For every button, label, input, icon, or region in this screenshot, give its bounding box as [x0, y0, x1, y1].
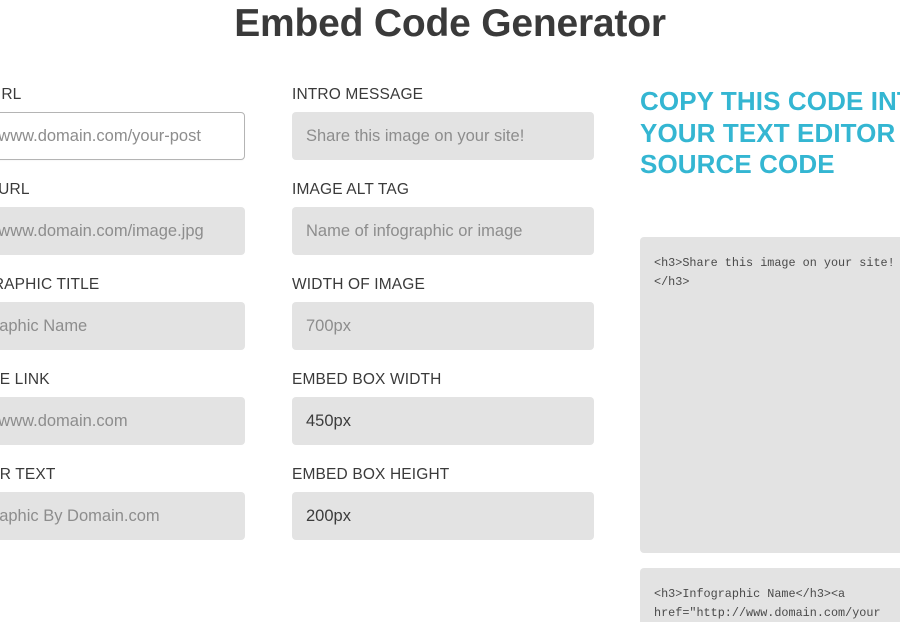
input-embed-box-height[interactable]: 200px: [292, 492, 594, 540]
input-image-url[interactable]: http://www.domain.com/image.jpg: [0, 207, 245, 255]
input-post-url[interactable]: http://www.domain.com/your-post: [0, 112, 245, 160]
field-group-embed-box-width: EMBED BOX WIDTH 450px: [292, 371, 594, 445]
field-group-infographic-title: INFOGRAPHIC TITLE Infographic Name: [0, 276, 245, 350]
label-embed-box-width: EMBED BOX WIDTH: [292, 371, 594, 389]
field-group-intro-message: INTRO MESSAGE Share this image on your s…: [292, 86, 594, 160]
label-embed-box-height: EMBED BOX HEIGHT: [292, 466, 594, 484]
field-group-width-of-image: WIDTH OF IMAGE 700px: [292, 276, 594, 350]
label-post-url: POST URL: [0, 86, 245, 104]
copy-instructions-heading: COPY THIS CODE INTO YOUR TEXT EDITOR OR …: [640, 86, 900, 181]
input-intro-message[interactable]: Share this image on your site!: [292, 112, 594, 160]
input-anchor-text[interactable]: Infographic By Domain.com: [0, 492, 245, 540]
input-infographic-title[interactable]: Infographic Name: [0, 302, 245, 350]
field-group-embed-box-height: EMBED BOX HEIGHT 200px: [292, 466, 594, 540]
embed-code-output-secondary[interactable]: <h3>Infographic Name</h3><a href="http:/…: [640, 568, 900, 622]
label-infographic-title: INFOGRAPHIC TITLE: [0, 276, 245, 294]
label-image-url: IMAGE URL: [0, 181, 245, 199]
output-column: COPY THIS CODE INTO YOUR TEXT EDITOR OR …: [640, 86, 900, 181]
label-intro-message: INTRO MESSAGE: [292, 86, 594, 104]
embed-code-output-primary[interactable]: <h3>Share this image on your site! </h3>: [640, 237, 900, 553]
input-source-link[interactable]: http://www.domain.com: [0, 397, 245, 445]
label-image-alt-tag: IMAGE ALT TAG: [292, 181, 594, 199]
page-title: Embed Code Generator: [0, 0, 900, 50]
label-source-link: SOURCE LINK: [0, 371, 245, 389]
field-group-image-alt-tag: IMAGE ALT TAG Name of infographic or ima…: [292, 181, 594, 255]
input-image-alt-tag[interactable]: Name of infographic or image: [292, 207, 594, 255]
field-group-image-url: IMAGE URL http://www.domain.com/image.jp…: [0, 181, 245, 255]
label-width-of-image: WIDTH OF IMAGE: [292, 276, 594, 294]
label-anchor-text: ANCHOR TEXT: [0, 466, 245, 484]
form-column-middle: INTRO MESSAGE Share this image on your s…: [292, 86, 594, 561]
input-embed-box-width[interactable]: 450px: [292, 397, 594, 445]
embed-code-generator-page: Embed Code Generator POST URL http://www…: [0, 0, 900, 622]
field-group-anchor-text: ANCHOR TEXT Infographic By Domain.com: [0, 466, 245, 540]
form-column-left: POST URL http://www.domain.com/your-post…: [0, 86, 245, 561]
field-group-source-link: SOURCE LINK http://www.domain.com: [0, 371, 245, 445]
input-width-of-image[interactable]: 700px: [292, 302, 594, 350]
field-group-post-url: POST URL http://www.domain.com/your-post: [0, 86, 245, 160]
